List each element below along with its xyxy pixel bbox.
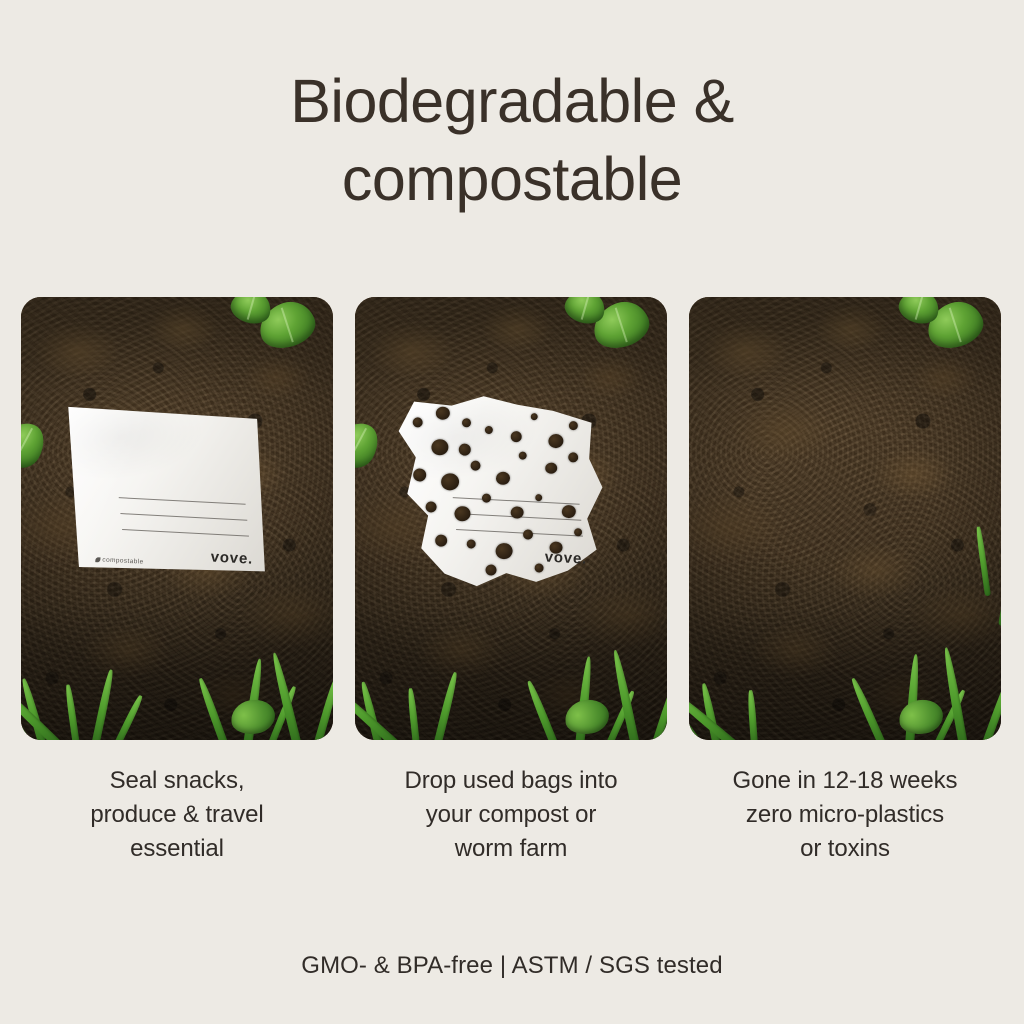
caption-row: Seal snacks, produce & travel essential … bbox=[21, 764, 1003, 866]
grass-cluster bbox=[21, 626, 333, 740]
panel-caption-3: Gone in 12-18 weeks zero micro-plastics … bbox=[689, 764, 1001, 866]
panel-image-intact-bag: compostable vove. bbox=[21, 297, 333, 740]
compostable-bag-degrading: vove. bbox=[389, 379, 614, 597]
page-title-line-1: Biodegradable & bbox=[0, 62, 1024, 140]
caption-line: Drop used bags into bbox=[355, 764, 667, 798]
caption-line: essential bbox=[21, 832, 333, 866]
panel-image-bag-gone bbox=[689, 297, 1001, 740]
page-title: Biodegradable & compostable bbox=[0, 62, 1024, 218]
bag-brand-mark: vove. bbox=[544, 549, 587, 568]
caption-line: Seal snacks, bbox=[21, 764, 333, 798]
panel-row: compostable vove. bbox=[21, 297, 1003, 740]
caption-line: worm farm bbox=[355, 832, 667, 866]
compostable-bag: compostable vove. bbox=[55, 379, 280, 597]
grass-cluster bbox=[355, 626, 667, 740]
product-feature-card: Biodegradable & compostable bbox=[0, 0, 1024, 1024]
certification-footer: GMO- & BPA-free | ASTM / SGS tested bbox=[0, 952, 1024, 980]
caption-line: zero micro-plastics bbox=[689, 798, 1001, 832]
panel-caption-1: Seal snacks, produce & travel essential bbox=[21, 764, 333, 866]
caption-line: your compost or bbox=[355, 798, 667, 832]
bag-brand-mark: vove. bbox=[210, 549, 253, 568]
caption-line: or toxins bbox=[689, 832, 1001, 866]
panel-image-degrading-bag: vove. bbox=[355, 297, 667, 740]
panel-caption-2: Drop used bags into your compost or worm… bbox=[355, 764, 667, 866]
caption-line: Gone in 12-18 weeks bbox=[689, 764, 1001, 798]
grass-cluster bbox=[689, 626, 1001, 740]
caption-line: produce & travel bbox=[21, 798, 333, 832]
page-title-line-2: compostable bbox=[0, 140, 1024, 218]
